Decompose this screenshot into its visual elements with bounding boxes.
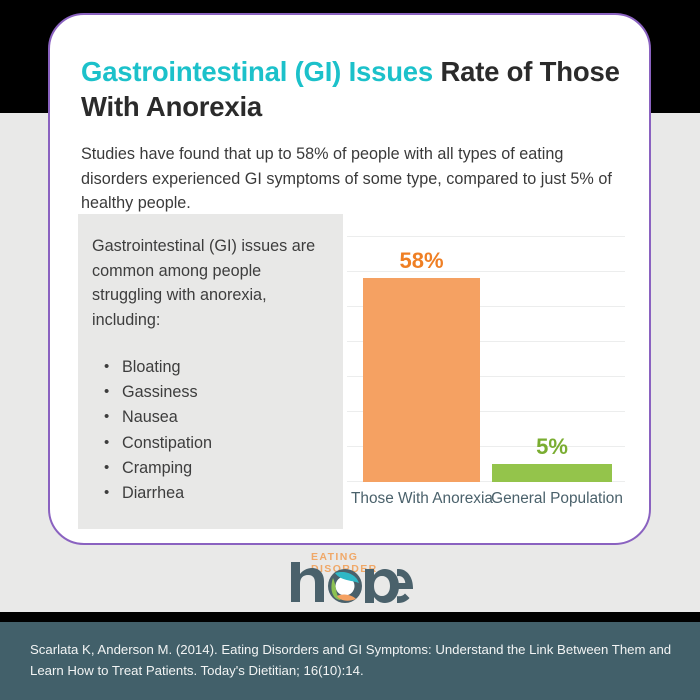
symptoms-panel: Gastrointestinal (GI) issues are common … xyxy=(78,214,343,529)
divider-black-band xyxy=(0,612,700,622)
citation-text: Scarlata K, Anderson M. (2014). Eating D… xyxy=(30,639,680,681)
page-title: Gastrointestinal (GI) Issues Rate of Tho… xyxy=(81,54,626,124)
page-title-accent: Gastrointestinal (GI) Issues xyxy=(81,56,433,87)
gridline xyxy=(347,236,625,237)
chart-plot-area: 58% 5% xyxy=(347,236,625,482)
list-item: Cramping xyxy=(100,456,330,481)
eating-disorder-hope-logo: EATING DISORDER xyxy=(289,551,413,603)
bar-value-those-with-anorexia: 58% xyxy=(363,248,480,274)
list-item: Bloating xyxy=(100,355,330,380)
list-item: Diarrhea xyxy=(100,481,330,506)
list-item: Nausea xyxy=(100,405,330,430)
list-item: Constipation xyxy=(100,431,330,456)
symptoms-list: Bloating Gassiness Nausea Constipation C… xyxy=(100,355,330,506)
logo-wordmark-icon xyxy=(289,562,413,603)
intro-paragraph: Studies have found that up to 58% of peo… xyxy=(81,142,621,216)
infographic-card: Gastrointestinal (GI) Issues Rate of Tho… xyxy=(48,13,651,545)
bar-general-population xyxy=(492,464,612,482)
bar-chart: 58% 5% Those With Anorexia General Popul… xyxy=(347,214,629,529)
bar-those-with-anorexia xyxy=(363,278,480,482)
symptoms-panel-intro: Gastrointestinal (GI) issues are common … xyxy=(92,234,330,332)
x-axis-label-general-population: General Population xyxy=(489,488,625,509)
x-axis-label-those-with-anorexia: Those With Anorexia xyxy=(347,488,497,509)
list-item: Gassiness xyxy=(100,380,330,405)
bar-value-general-population: 5% xyxy=(492,434,612,460)
